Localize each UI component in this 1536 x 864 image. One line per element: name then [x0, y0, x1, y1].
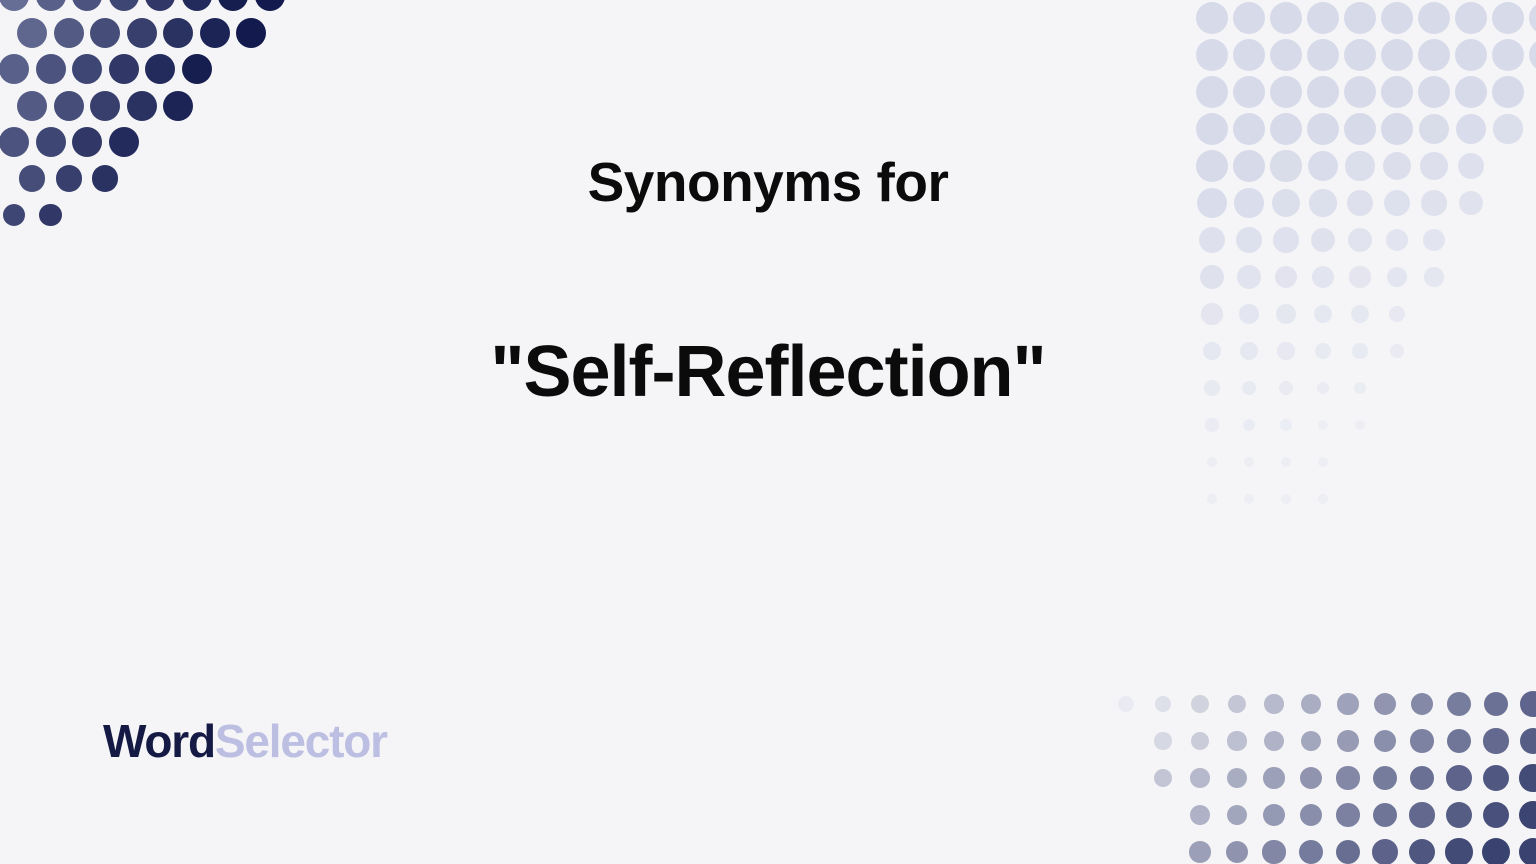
brand-logo-secondary: Selector	[215, 715, 387, 767]
brand-logo-primary: Word	[103, 715, 215, 767]
page-eyebrow: Synonyms for	[0, 155, 1536, 210]
page-title: "Self-Reflection"	[0, 336, 1536, 408]
brand-logo[interactable]: WordSelector	[103, 718, 387, 764]
synonym-title-card: Synonyms for "Self-Reflection" WordSelec…	[0, 0, 1536, 864]
